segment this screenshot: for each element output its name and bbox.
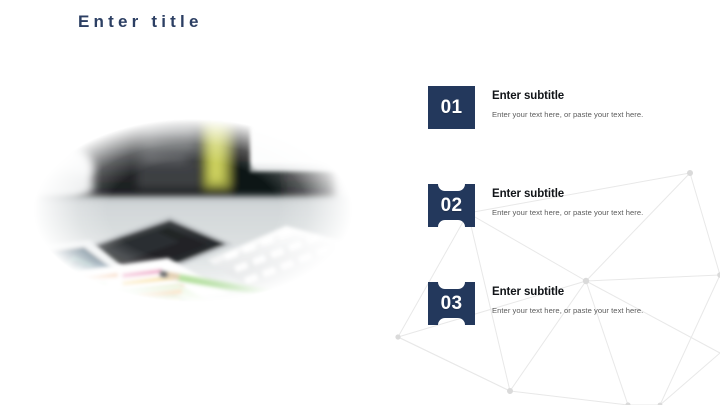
desk-photo: [18, 108, 368, 313]
list-item-text: Enter subtitle Enter your text here, or …: [492, 90, 704, 120]
list-item-title: Enter subtitle: [492, 188, 704, 202]
number-badge: 03: [428, 282, 475, 325]
list-item-body: Enter your text here, or paste your text…: [492, 306, 704, 316]
page-title: Enter title: [78, 12, 203, 32]
list-item-title: Enter subtitle: [492, 286, 704, 300]
badge-number: 02: [441, 196, 463, 215]
badge-number: 03: [441, 294, 463, 313]
list-item-body: Enter your text here, or paste your text…: [492, 208, 704, 218]
number-badge: 01: [428, 86, 475, 129]
list-item[interactable]: 02 Enter subtitle Enter your text here, …: [424, 180, 704, 278]
feature-list: 01 Enter subtitle Enter your text here, …: [424, 82, 704, 376]
desk-photo-illustration: [18, 108, 368, 313]
list-item-text: Enter subtitle Enter your text here, or …: [492, 188, 704, 218]
list-item[interactable]: 03 Enter subtitle Enter your text here, …: [424, 278, 704, 376]
list-item-title: Enter subtitle: [492, 90, 704, 104]
badge-number: 01: [441, 98, 463, 117]
list-item-text: Enter subtitle Enter your text here, or …: [492, 286, 704, 316]
list-item[interactable]: 01 Enter subtitle Enter your text here, …: [424, 82, 704, 180]
list-item-body: Enter your text here, or paste your text…: [492, 110, 704, 120]
number-badge: 02: [428, 184, 475, 227]
